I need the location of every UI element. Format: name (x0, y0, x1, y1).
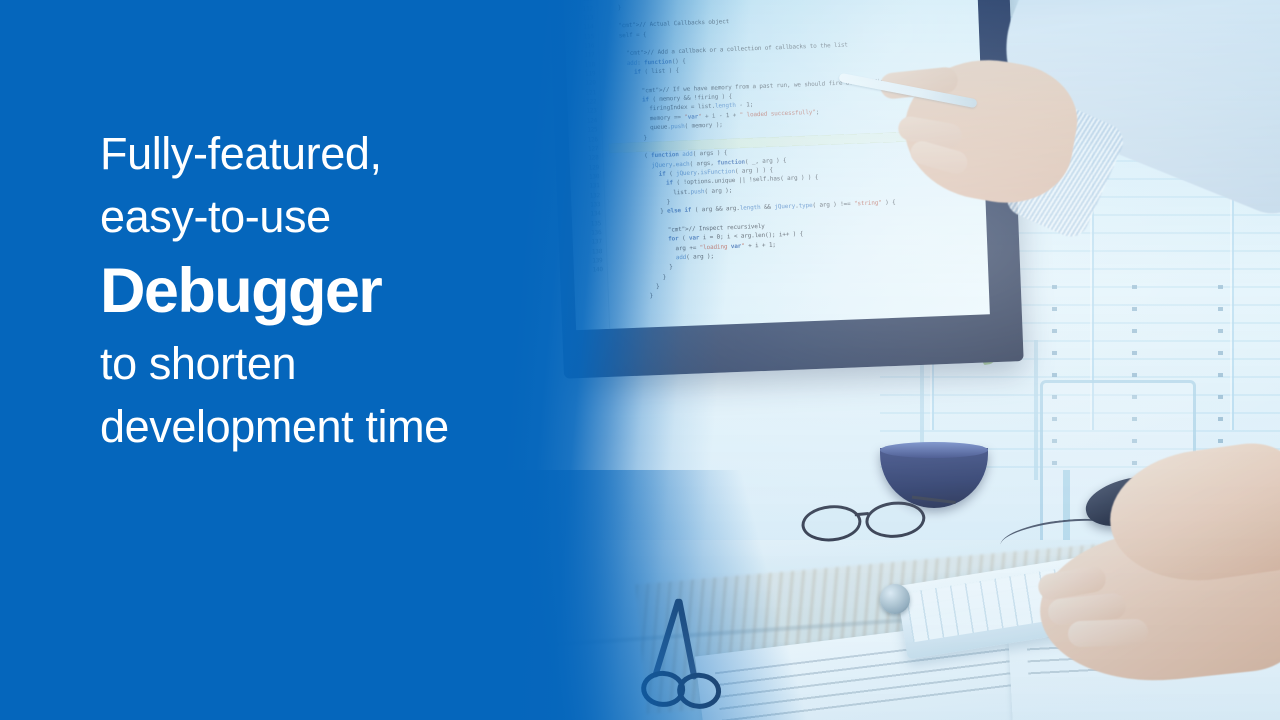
headline-emphasis: Debugger (100, 252, 570, 330)
blue-bowl-rim (880, 442, 988, 458)
headline-line-4: development time (100, 395, 570, 458)
headline-line-3: to shorten (100, 332, 570, 395)
blind-cord (1218, 285, 1223, 445)
presentation-slide: 1101111121131141151161171181191201211221… (0, 0, 1280, 720)
headline: Fully-featured, easy-to-use Debugger to … (100, 122, 570, 458)
headline-line-2: easy-to-use (100, 185, 570, 248)
keyboard-knob (880, 584, 910, 614)
headline-line-1: Fully-featured, (100, 122, 570, 185)
finger (1068, 619, 1149, 648)
